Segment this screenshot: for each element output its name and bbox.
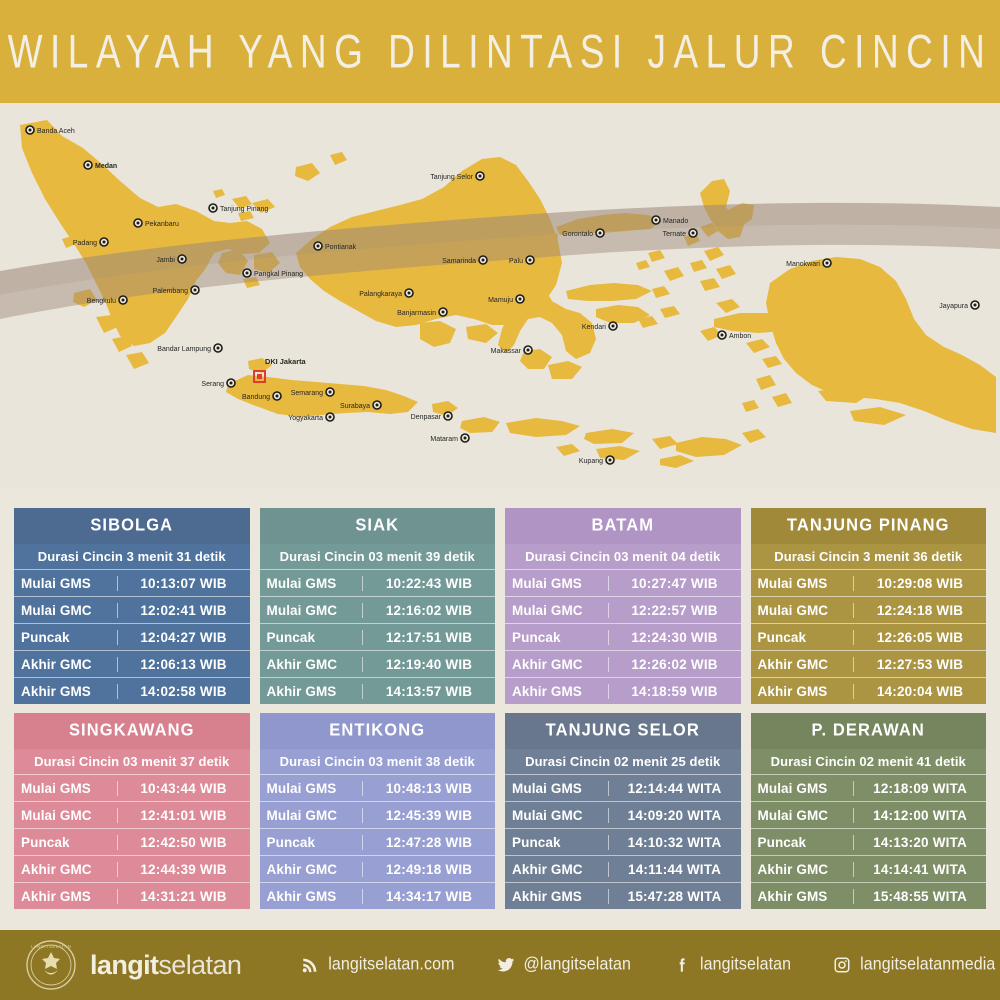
row-label: Akhir GMC [751, 657, 855, 672]
row-label: Akhir GMC [505, 862, 609, 877]
page-title: WILAYAH YANG DILINTASI JALUR CINCIN [8, 25, 993, 79]
social-label: langitselatan [700, 955, 791, 974]
card-row: Mulai GMC12:24:18 WIB [751, 596, 987, 623]
row-label: Akhir GMC [505, 657, 609, 672]
row-value: 15:47:28 WITA [609, 889, 741, 904]
row-label: Mulai GMC [751, 808, 855, 823]
city-label: Yogyakarta [288, 415, 323, 422]
card-row: Puncak12:42:50 WIB [14, 828, 250, 855]
city-label: Serang [201, 381, 224, 388]
row-label: Akhir GMS [505, 889, 609, 904]
card-row: Mulai GMC12:16:02 WIB [260, 596, 496, 623]
row-value: 12:27:53 WIB [854, 657, 986, 672]
card-siak[interactable]: SIAKDurasi Cincin 03 menit 39 detikMulai… [260, 508, 496, 704]
row-label: Akhir GMC [14, 657, 118, 672]
card-row: Puncak12:04:27 WIB [14, 623, 250, 650]
card-duration: Durasi Cincin 3 menit 36 detik [751, 543, 987, 569]
svg-text:LANGITSELATAN: LANGITSELATAN [31, 944, 71, 949]
city-label: Palangkaraya [359, 291, 402, 298]
row-value: 14:31:21 WIB [118, 889, 250, 904]
row-label: Puncak [505, 835, 609, 850]
city-label: Manado [663, 218, 688, 225]
twitter-icon [497, 956, 515, 974]
row-label: Mulai GMC [260, 808, 364, 823]
city-label: Kupang [579, 458, 603, 465]
city-marker-makassar: Makassar [491, 346, 532, 355]
city-marker-pekanbaru: Pekanbaru [134, 219, 179, 228]
city-marker-ambon: Ambon [718, 331, 751, 340]
social-link-instagram[interactable]: langitselatanmedia [833, 956, 995, 974]
card-row: Mulai GMC14:09:20 WITA [505, 801, 741, 828]
row-label: Akhir GMC [14, 862, 118, 877]
row-value: 12:24:30 WIB [609, 630, 741, 645]
city-label: Mamuju [488, 297, 513, 304]
city-marker-samarinda: Samarinda [442, 256, 487, 265]
card-row: Akhir GMC14:11:44 WITA [505, 855, 741, 882]
city-marker-padang: Padang [73, 238, 108, 247]
facebook-icon [673, 956, 691, 974]
city-label: Denpasar [411, 414, 442, 421]
langitselatan-seal-logo: LANGITSELATAN [25, 939, 77, 991]
card-row: Akhir GMS14:20:04 WIB [751, 677, 987, 704]
city-label: Bengkulu [87, 298, 116, 305]
row-label: Mulai GMC [505, 808, 609, 823]
card-sibolga[interactable]: SIBOLGADurasi Cincin 3 menit 31 detikMul… [14, 508, 250, 704]
row-value: 12:16:02 WIB [363, 603, 495, 618]
row-label: Puncak [14, 630, 118, 645]
card-singkawang[interactable]: SINGKAWANGDurasi Cincin 03 menit 37 deti… [14, 713, 250, 909]
row-label: Puncak [14, 835, 118, 850]
social-label: @langitselatan [524, 955, 632, 974]
city-label: Palu [509, 258, 523, 265]
row-label: Akhir GMS [260, 889, 364, 904]
card-row: Mulai GMS10:29:08 WIB [751, 569, 987, 596]
city-label: Pangkal Pinang [254, 271, 303, 278]
card-row: Mulai GMC12:02:41 WIB [14, 596, 250, 623]
card-row: Puncak14:10:32 WITA [505, 828, 741, 855]
social-link-rss[interactable]: langitselatan.com [301, 956, 454, 974]
header-banner: WILAYAH YANG DILINTASI JALUR CINCIN [0, 0, 1000, 103]
card-row: Akhir GMC14:14:41 WITA [751, 855, 987, 882]
social-links: langitselatan.com@langitselatanlangitsel… [301, 956, 995, 974]
row-label: Akhir GMC [260, 657, 364, 672]
city-marker-manado: Manado [652, 216, 688, 225]
card-row: Akhir GMS14:02:58 WIB [14, 677, 250, 704]
city-marker-ternate: Ternate [663, 229, 697, 238]
row-value: 12:06:13 WIB [118, 657, 250, 672]
row-label: Puncak [505, 630, 609, 645]
city-marker-dki-jakarta: DKI Jakarta [265, 357, 307, 366]
city-marker-manokwari: Manokwari [786, 259, 831, 268]
card-title: SIBOLGA [14, 508, 250, 544]
row-value: 12:45:39 WIB [363, 808, 495, 823]
card-row: Akhir GMS14:13:57 WIB [260, 677, 496, 704]
card-row: Mulai GMS10:22:43 WIB [260, 569, 496, 596]
row-value: 10:43:44 WIB [118, 781, 250, 796]
city-marker-denpasar: Denpasar [411, 412, 452, 421]
row-value: 12:14:44 WITA [609, 781, 741, 796]
card-row: Puncak12:26:05 WIB [751, 623, 987, 650]
city-marker-mataram: Mataram [430, 434, 469, 443]
card-duration: Durasi Cincin 02 menit 25 detik [505, 748, 741, 774]
card-row: Akhir GMS14:31:21 WIB [14, 882, 250, 909]
city-label: Bandung [242, 394, 270, 401]
city-label: Banda Aceh [37, 128, 75, 135]
row-value: 12:17:51 WIB [363, 630, 495, 645]
card-row: Akhir GMC12:49:18 WIB [260, 855, 496, 882]
row-label: Akhir GMC [751, 862, 855, 877]
social-link-twitter[interactable]: @langitselatan [497, 956, 632, 974]
city-marker-surabaya: Surabaya [340, 401, 381, 410]
row-label: Akhir GMS [751, 889, 855, 904]
row-label: Mulai GMC [14, 603, 118, 618]
row-label: Akhir GMS [14, 889, 118, 904]
city-label: Surabaya [340, 403, 370, 410]
row-label: Puncak [751, 835, 855, 850]
row-label: Puncak [260, 630, 364, 645]
city-label: Jayapura [939, 303, 968, 310]
row-value: 12:24:18 WIB [854, 603, 986, 618]
row-value: 10:22:43 WIB [363, 576, 495, 591]
city-label: Tanjung Pinang [220, 206, 268, 213]
city-label: Pekanbaru [145, 221, 179, 228]
row-value: 14:34:17 WIB [363, 889, 495, 904]
row-label: Puncak [751, 630, 855, 645]
city-label: Mataram [430, 436, 458, 443]
row-value: 14:11:44 WITA [609, 862, 741, 877]
row-value: 14:18:59 WIB [609, 684, 741, 699]
row-value: 12:26:02 WIB [609, 657, 741, 672]
row-value: 12:44:39 WIB [118, 862, 250, 877]
row-value: 12:02:41 WIB [118, 603, 250, 618]
card-row: Akhir GMC12:19:40 WIB [260, 650, 496, 677]
brand-bold: langit [90, 950, 158, 980]
city-marker-kupang: Kupang [579, 456, 614, 465]
city-label: Palembang [153, 288, 189, 295]
instagram-icon [833, 956, 851, 974]
city-marker-mamuju: Mamuju [488, 295, 524, 304]
row-label: Akhir GMS [14, 684, 118, 699]
city-timing-cards: SIBOLGADurasi Cincin 3 menit 31 detikMul… [14, 508, 986, 909]
city-marker-kendari: Kendari [582, 322, 617, 331]
card-title: SIAK [260, 508, 496, 544]
card-p-derawan[interactable]: P. DERAWANDurasi Cincin 02 menit 41 deti… [751, 713, 987, 909]
city-marker-semarang: Semarang [291, 388, 334, 397]
city-label: Gorontalo [562, 231, 593, 238]
card-row: Akhir GMS15:47:28 WITA [505, 882, 741, 909]
city-label: Tanjung Selor [430, 174, 473, 181]
card-row: Mulai GMS12:18:09 WITA [751, 774, 987, 801]
row-value: 14:10:32 WITA [609, 835, 741, 850]
card-title: TANJUNG SELOR [505, 713, 741, 749]
social-label: langitselatanmedia [860, 955, 995, 974]
card-row: Akhir GMC12:27:53 WIB [751, 650, 987, 677]
row-label: Mulai GMC [505, 603, 609, 618]
card-duration: Durasi Cincin 03 menit 37 detik [14, 748, 250, 774]
card-title: SINGKAWANG [14, 713, 250, 749]
row-label: Akhir GMS [260, 684, 364, 699]
brand-light: selatan [158, 950, 241, 980]
card-duration: Durasi Cincin 03 menit 04 detik [505, 543, 741, 569]
city-label: Pontianak [325, 244, 357, 251]
city-label: Jambi [156, 257, 175, 264]
row-label: Akhir GMS [505, 684, 609, 699]
card-row: Akhir GMS14:18:59 WIB [505, 677, 741, 704]
row-value: 12:19:40 WIB [363, 657, 495, 672]
card-row: Mulai GMS10:43:44 WIB [14, 774, 250, 801]
card-row: Mulai GMS10:48:13 WIB [260, 774, 496, 801]
card-tanjung-pinang[interactable]: TANJUNG PINANGDurasi Cincin 3 menit 36 d… [751, 508, 987, 704]
city-label: Medan [95, 163, 117, 170]
card-row: Puncak12:17:51 WIB [260, 623, 496, 650]
row-label: Mulai GMS [751, 576, 855, 591]
row-value: 14:12:00 WITA [854, 808, 986, 823]
row-value: 12:49:18 WIB [363, 862, 495, 877]
card-row: Akhir GMC12:44:39 WIB [14, 855, 250, 882]
card-duration: Durasi Cincin 03 menit 39 detik [260, 543, 496, 569]
row-value: 10:27:47 WIB [609, 576, 741, 591]
card-title: ENTIKONG [260, 713, 496, 749]
card-row: Akhir GMS15:48:55 WITA [751, 882, 987, 909]
brand-wordmark: langitselatan [90, 950, 241, 981]
city-label: Semarang [291, 390, 323, 397]
row-value: 12:26:05 WIB [854, 630, 986, 645]
map-container: Banda AcehMedanTanjung PinangPekanbaruPa… [0, 103, 1000, 488]
city-marker-palu: Palu [509, 256, 534, 265]
row-value: 14:14:41 WITA [854, 862, 986, 877]
card-row: Mulai GMC14:12:00 WITA [751, 801, 987, 828]
card-row: Puncak12:24:30 WIB [505, 623, 741, 650]
city-marker-pontianak: Pontianak [314, 242, 357, 251]
city-label: Bandar Lampung [157, 346, 211, 353]
row-label: Mulai GMS [260, 781, 364, 796]
infographic-page: WILAYAH YANG DILINTASI JALUR CINCIN [0, 0, 1000, 1000]
card-row: Puncak14:13:20 WITA [751, 828, 987, 855]
city-label: Kendari [582, 324, 607, 331]
card-row: Puncak12:47:28 WIB [260, 828, 496, 855]
card-batam[interactable]: BATAMDurasi Cincin 03 menit 04 detikMula… [505, 508, 741, 704]
card-row: Mulai GMS10:13:07 WIB [14, 569, 250, 596]
row-label: Mulai GMS [505, 576, 609, 591]
social-label: langitselatan.com [328, 955, 454, 974]
city-label: Makassar [491, 348, 522, 355]
row-value: 12:41:01 WIB [118, 808, 250, 823]
footer-bar: LANGITSELATAN langitselatan langitselata… [0, 930, 1000, 1000]
card-tanjung-selor[interactable]: TANJUNG SELORDurasi Cincin 02 menit 25 d… [505, 713, 741, 909]
card-duration: Durasi Cincin 3 menit 31 detik [14, 543, 250, 569]
row-value: 12:42:50 WIB [118, 835, 250, 850]
row-value: 14:13:20 WITA [854, 835, 986, 850]
row-value: 15:48:55 WITA [854, 889, 986, 904]
row-value: 14:02:58 WIB [118, 684, 250, 699]
row-value: 14:09:20 WITA [609, 808, 741, 823]
city-marker-medan: Medan [84, 161, 117, 170]
rss-icon [301, 956, 319, 974]
social-link-facebook[interactable]: langitselatan [673, 956, 791, 974]
card-title: P. DERAWAN [751, 713, 987, 749]
card-row: Akhir GMC12:26:02 WIB [505, 650, 741, 677]
row-label: Mulai GMC [14, 808, 118, 823]
row-label: Mulai GMC [751, 603, 855, 618]
card-row: Mulai GMC12:45:39 WIB [260, 801, 496, 828]
city-label: Ternate [663, 231, 686, 238]
row-label: Mulai GMS [260, 576, 364, 591]
city-label: Banjarmasin [397, 310, 436, 317]
card-row: Mulai GMS12:14:44 WITA [505, 774, 741, 801]
card-entikong[interactable]: ENTIKONGDurasi Cincin 03 menit 38 detikM… [260, 713, 496, 909]
card-row: Mulai GMS10:27:47 WIB [505, 569, 741, 596]
row-label: Akhir GMS [751, 684, 855, 699]
row-label: Mulai GMS [14, 781, 118, 796]
city-marker-serang: Serang [201, 379, 235, 388]
city-label: Padang [73, 240, 97, 247]
row-value: 10:13:07 WIB [118, 576, 250, 591]
row-value: 10:48:13 WIB [363, 781, 495, 796]
row-value: 12:18:09 WITA [854, 781, 986, 796]
row-label: Puncak [260, 835, 364, 850]
city-label: Manokwari [786, 261, 820, 268]
card-duration: Durasi Cincin 02 menit 41 detik [751, 748, 987, 774]
card-row: Mulai GMC12:22:57 WIB [505, 596, 741, 623]
row-value: 14:13:57 WIB [363, 684, 495, 699]
indonesia-map: Banda AcehMedanTanjung PinangPekanbaruPa… [0, 103, 1000, 488]
city-marker-jayapura: Jayapura [939, 301, 979, 310]
city-marker-bandung: Bandung [242, 392, 281, 401]
row-value: 12:22:57 WIB [609, 603, 741, 618]
row-label: Akhir GMC [260, 862, 364, 877]
card-row: Mulai GMC12:41:01 WIB [14, 801, 250, 828]
card-duration: Durasi Cincin 03 menit 38 detik [260, 748, 496, 774]
city-marker-yogyakarta: Yogyakarta [288, 413, 334, 422]
city-label: DKI Jakarta [265, 357, 307, 366]
row-label: Mulai GMS [14, 576, 118, 591]
card-title: BATAM [505, 508, 741, 544]
row-label: Mulai GMS [505, 781, 609, 796]
city-label: Samarinda [442, 258, 476, 265]
city-marker-gorontalo: Gorontalo [562, 229, 604, 238]
card-row: Akhir GMC12:06:13 WIB [14, 650, 250, 677]
card-row: Akhir GMS14:34:17 WIB [260, 882, 496, 909]
row-value: 12:47:28 WIB [363, 835, 495, 850]
row-label: Mulai GMS [751, 781, 855, 796]
row-value: 12:04:27 WIB [118, 630, 250, 645]
city-label: Ambon [729, 333, 751, 340]
card-title: TANJUNG PINANG [751, 508, 987, 544]
city-marker-jambi: Jambi [156, 255, 186, 264]
city-marker-bengkulu: Bengkulu [87, 296, 127, 305]
row-label: Mulai GMC [260, 603, 364, 618]
row-value: 10:29:08 WIB [854, 576, 986, 591]
row-value: 14:20:04 WIB [854, 684, 986, 699]
